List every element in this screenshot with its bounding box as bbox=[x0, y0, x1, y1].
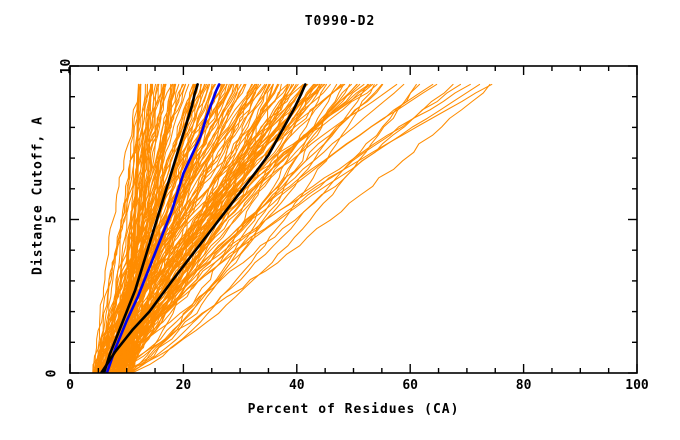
ensemble-curves-group bbox=[93, 84, 492, 373]
plot-figure: T0990-D2 Distance Cutoff, A Percent of R… bbox=[0, 0, 680, 440]
plot-canvas bbox=[0, 0, 680, 440]
